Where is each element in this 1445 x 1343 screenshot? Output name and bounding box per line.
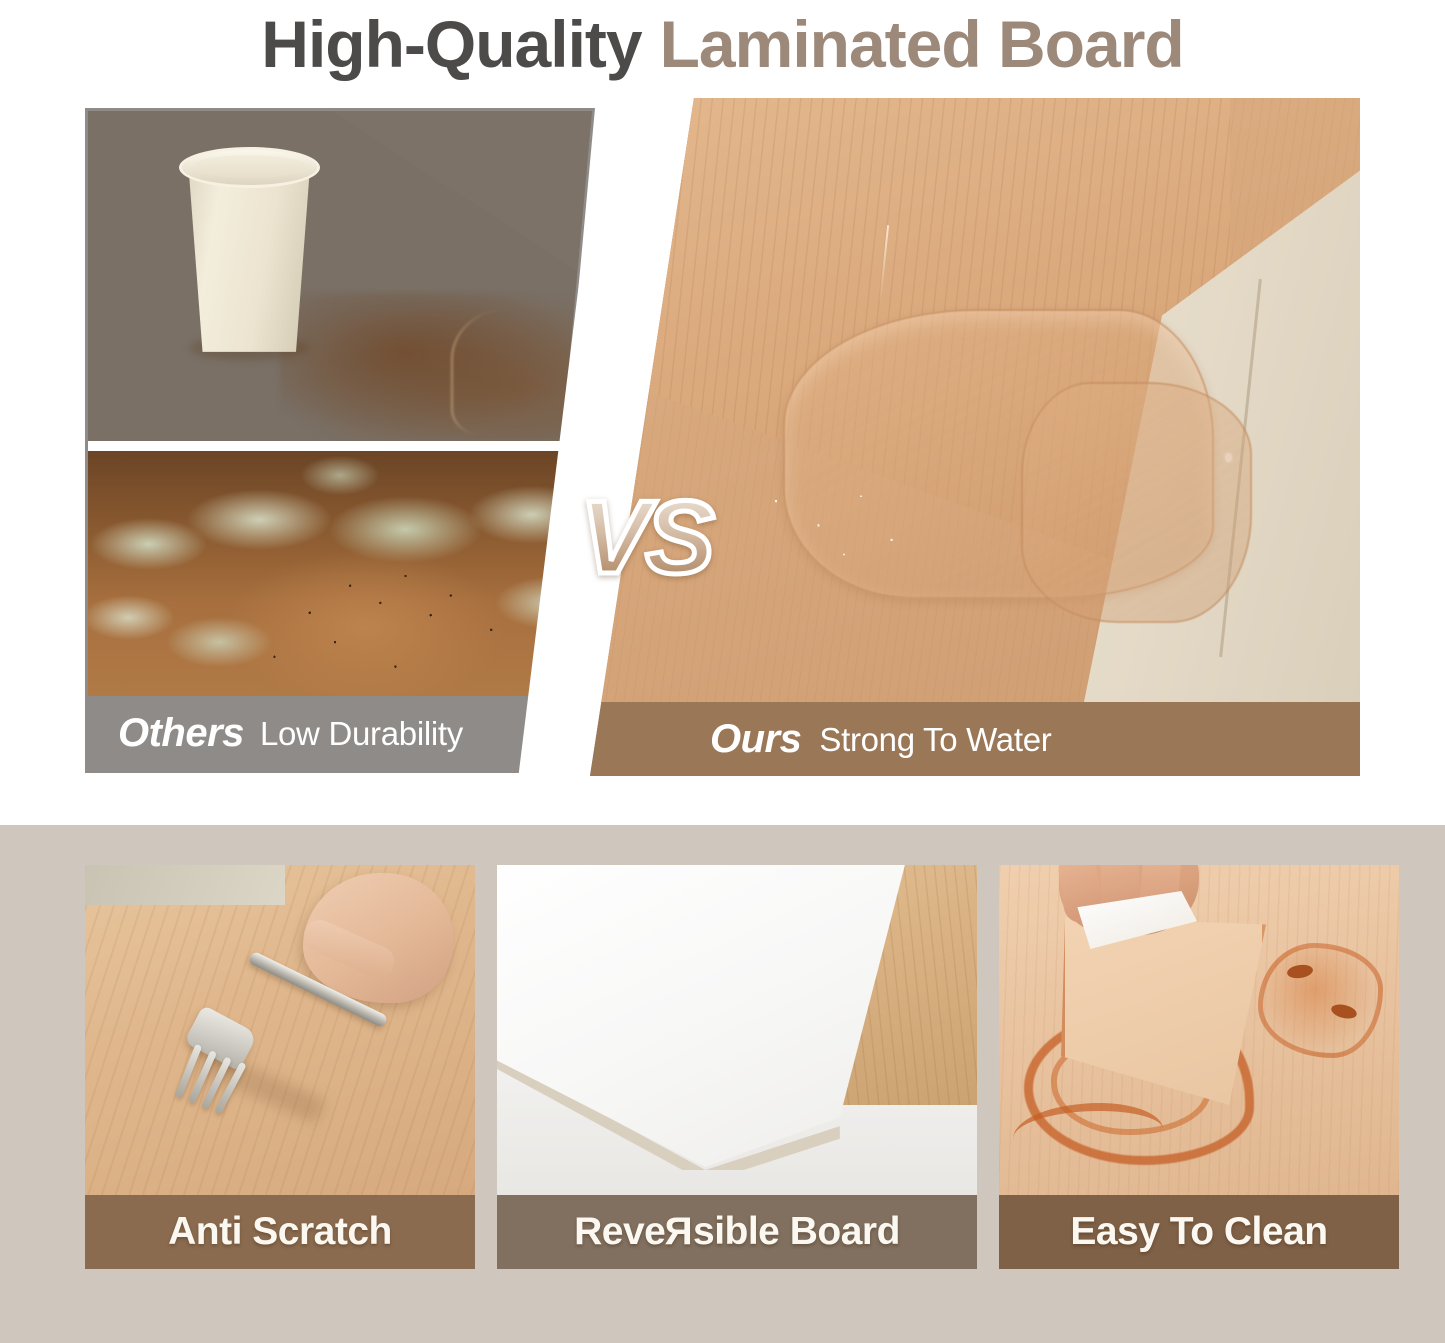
cup-rim <box>179 147 320 188</box>
photo-divider-gap <box>88 441 592 451</box>
ours-strong-label: Ours <box>710 719 801 759</box>
label-text-before: Reve <box>574 1210 665 1253</box>
mirrored-r-glyph: R <box>665 1210 693 1254</box>
others-sub-label: Low Durability <box>260 717 463 750</box>
vs-badge: VS <box>580 486 711 590</box>
features-band: Anti Scratch ReveRsible Board <box>0 825 1445 1343</box>
feature-card-easy-to-clean[interactable]: Easy To Clean <box>999 865 1399 1269</box>
background-wall-strip <box>85 865 285 905</box>
feature-card-anti-scratch[interactable]: Anti Scratch <box>85 865 475 1269</box>
ours-sub-label: Strong To Water <box>819 723 1051 756</box>
label-text-after: sible Board <box>693 1210 900 1253</box>
easy-to-clean-photo <box>999 865 1399 1195</box>
cup-rim-inner <box>193 155 306 177</box>
paper-cup <box>179 147 320 352</box>
anti-scratch-photo <box>85 865 475 1195</box>
reversible-board-label-bar: ReveRsible Board <box>497 1195 977 1269</box>
comparison-hero: Others Low Durability Ours Strong To Wat… <box>0 88 1445 788</box>
easy-to-clean-label-bar: Easy To Clean <box>999 1195 1399 1269</box>
mold-specks <box>88 451 592 696</box>
title-part-tan: Laminated Board <box>660 11 1184 77</box>
mold-photo <box>88 451 592 696</box>
feature-card-list: Anti Scratch ReveRsible Board <box>85 865 1399 1269</box>
cup-body <box>184 164 314 352</box>
others-label-bar: Others Low Durability <box>88 696 592 770</box>
page-title: High-Quality Laminated Board <box>0 0 1445 88</box>
water-puddle-secondary <box>1021 382 1252 624</box>
feature-card-reversible-board[interactable]: ReveRsible Board <box>497 865 977 1269</box>
background-wall-triangle <box>332 111 592 281</box>
ours-label-bar: Ours Strong To Water <box>590 702 1360 776</box>
others-strong-label: Others <box>118 713 244 753</box>
cup-spill-photo <box>88 111 592 441</box>
water-bead-photo <box>590 98 1360 702</box>
others-panel-inner: Others Low Durability <box>88 111 592 770</box>
others-panel: Others Low Durability <box>85 108 595 773</box>
title-part-dark: High-Quality <box>261 11 641 77</box>
white-side-panel <box>497 865 907 1167</box>
sauce-stain-right <box>1258 943 1383 1058</box>
reversible-board-label: ReveRsible Board <box>574 1210 900 1254</box>
water-beads-sparkle <box>759 472 928 569</box>
anti-scratch-label: Anti Scratch <box>168 1210 392 1254</box>
easy-to-clean-label: Easy To Clean <box>1070 1210 1327 1254</box>
ours-panel: Ours Strong To Water <box>590 98 1360 776</box>
reversible-board-photo <box>497 865 977 1195</box>
anti-scratch-label-bar: Anti Scratch <box>85 1195 475 1269</box>
